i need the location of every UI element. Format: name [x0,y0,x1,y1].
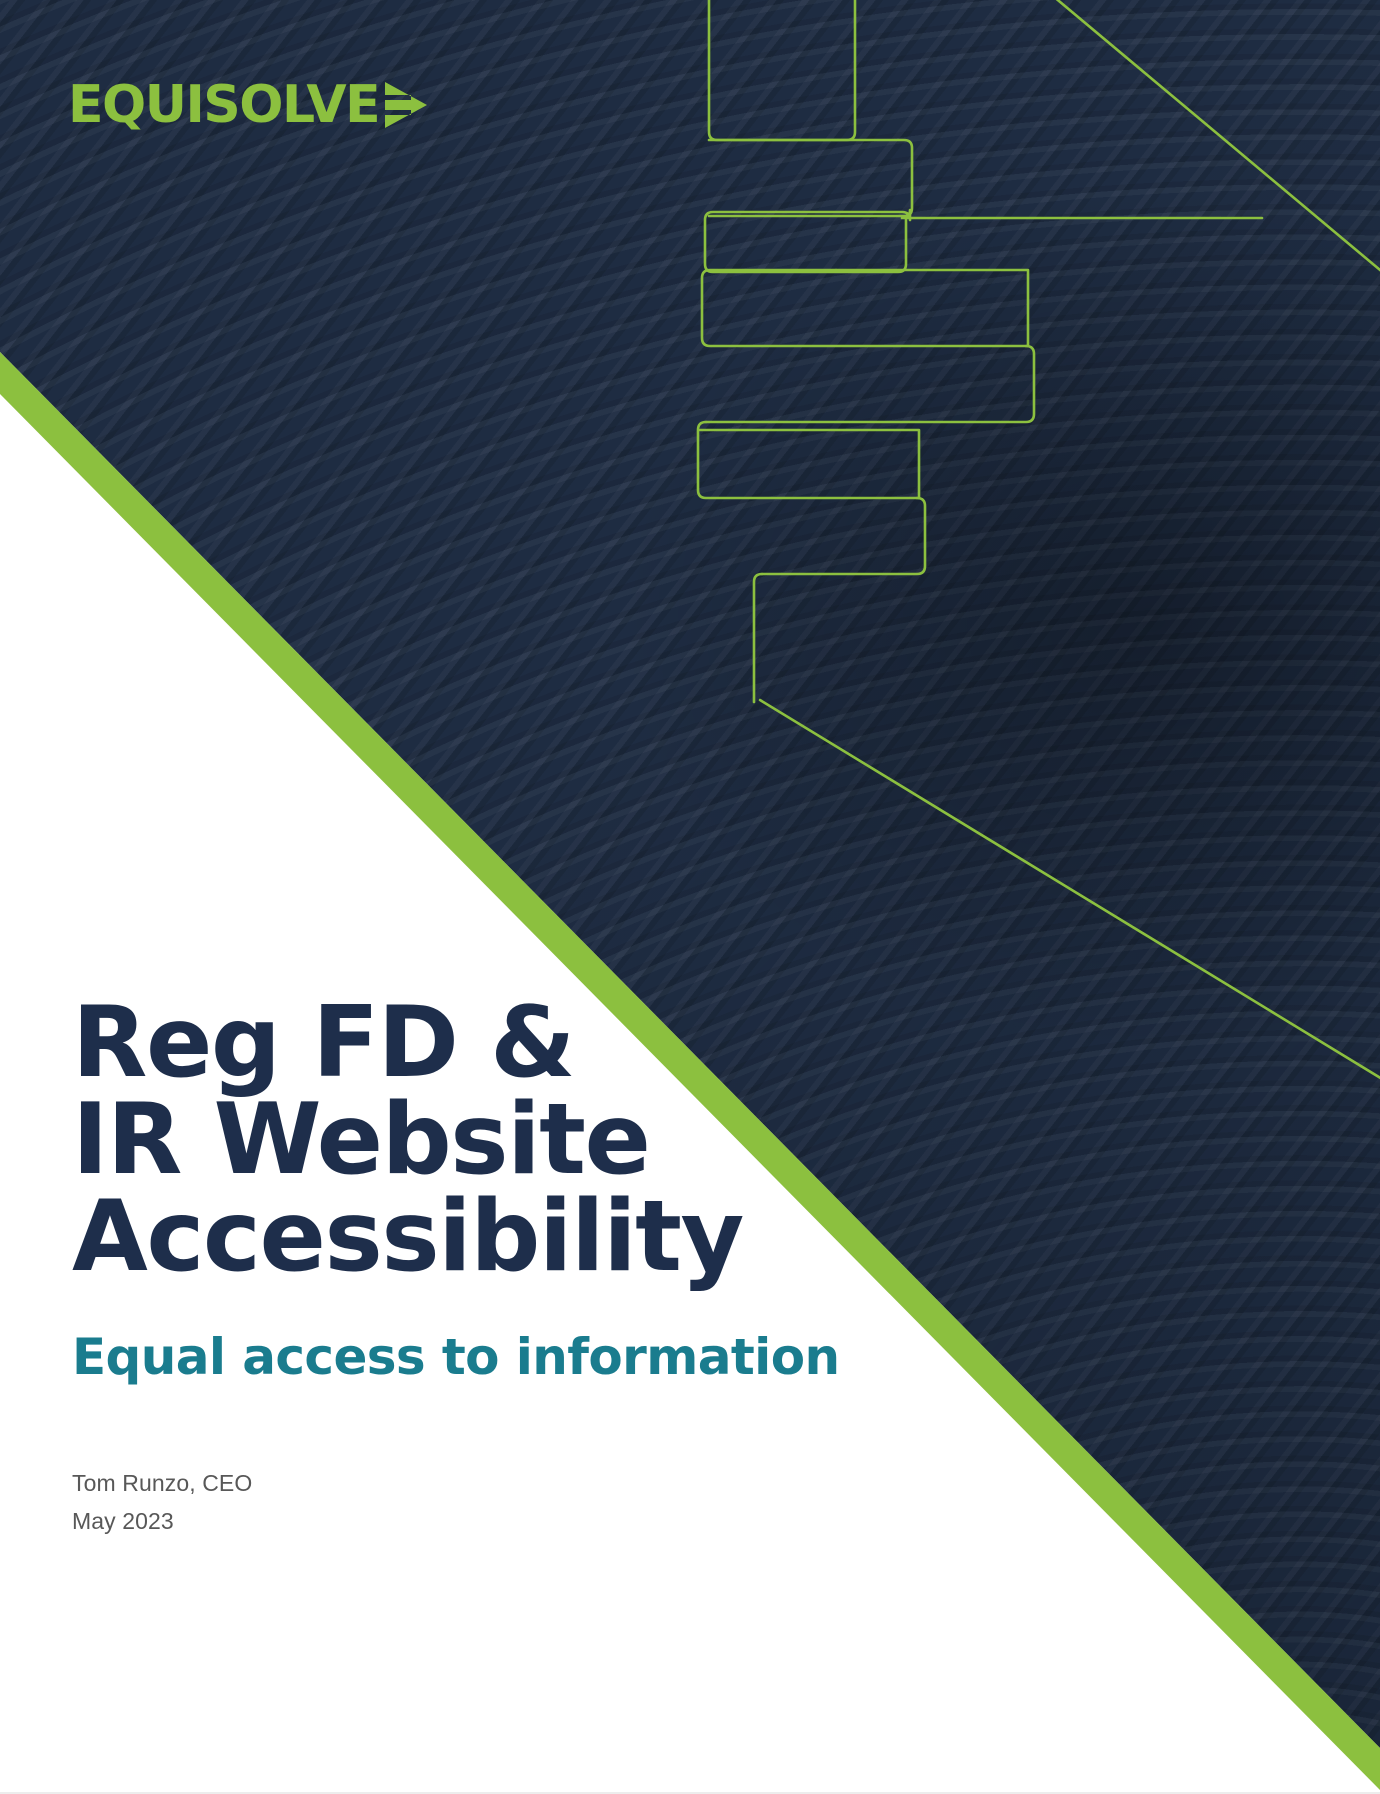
byline-date: May 2023 [72,1502,832,1540]
cover-title-block: Reg FD & IR Website Accessibility Equal … [72,995,832,1540]
arrow-e-mark-icon [381,74,443,136]
byline-author: Tom Runzo, CEO [72,1464,832,1502]
logo-wordmark: EQUISOLVE [68,79,379,131]
byline: Tom Runzo, CEO May 2023 [72,1464,832,1540]
page-subtitle: Equal access to information [72,1328,832,1386]
cover-page: EQUISOLVE Reg FD & IR Website Accessibil… [0,0,1380,1794]
equisolve-logo[interactable]: EQUISOLVE [68,76,443,134]
page-title: Reg FD & IR Website Accessibility [72,995,832,1286]
